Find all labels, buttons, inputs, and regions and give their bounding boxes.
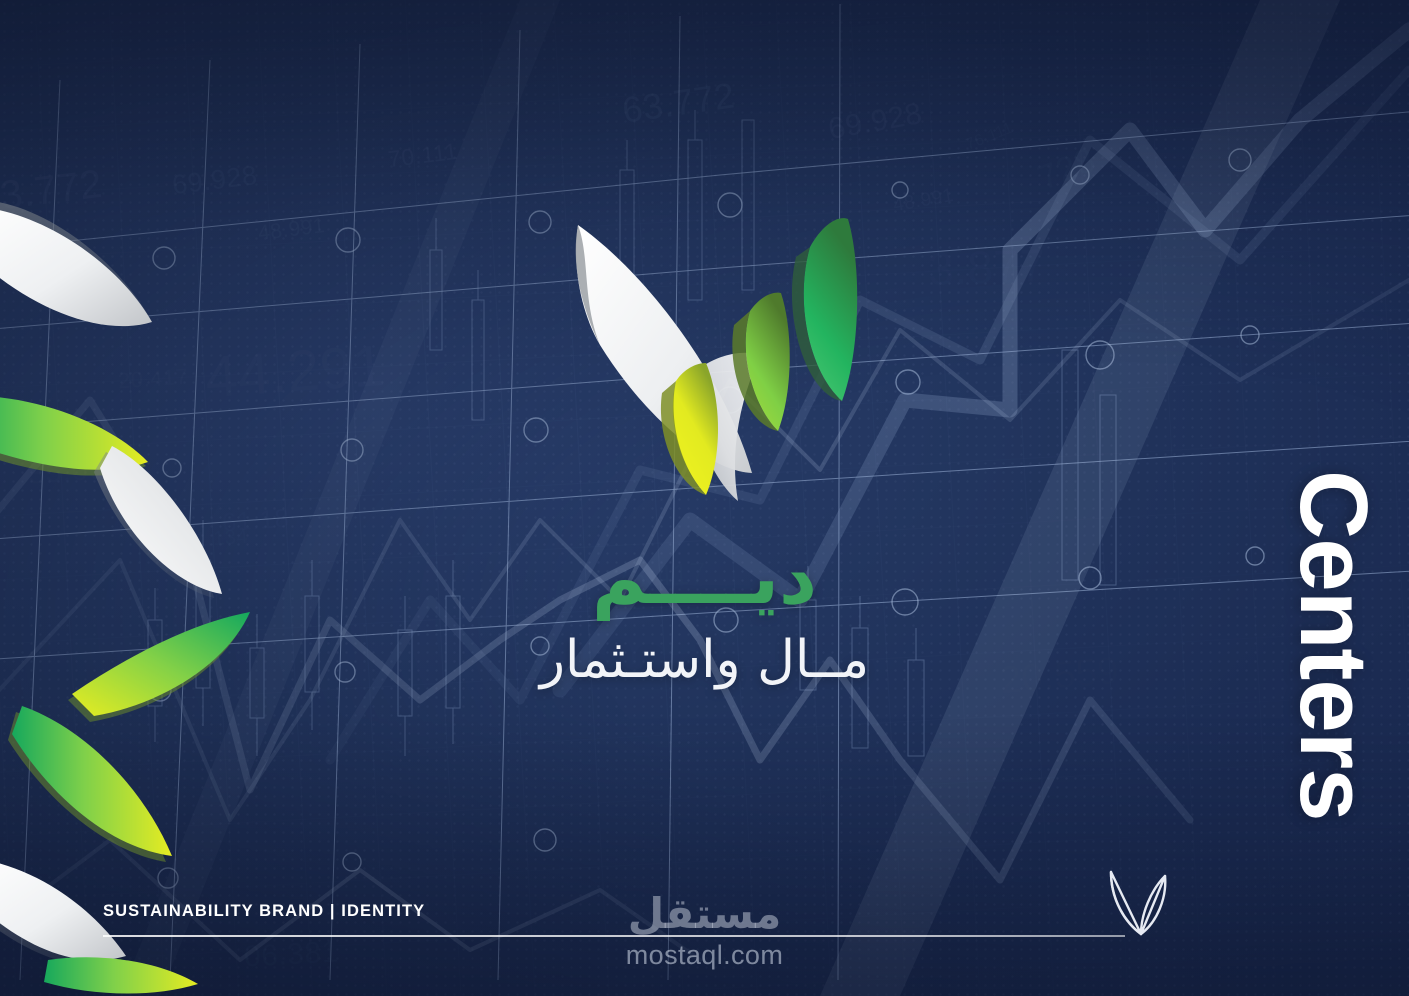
wordmark-primary: ديــــم <box>0 540 1409 618</box>
brand-wordmark: ديــــم مــال واستـثمار <box>0 540 1409 689</box>
side-section-title: Centers <box>1285 470 1381 820</box>
leaf-green-4 <box>44 957 198 993</box>
logo-leaf-green <box>792 218 857 401</box>
leaf-white-1 <box>0 200 152 326</box>
brand-logo-mark <box>556 205 886 510</box>
footer-label: SUSTAINABILITY BRAND | IDENTITY <box>103 902 425 921</box>
leaf-v-icon <box>1095 862 1177 938</box>
leaf-green-3 <box>8 706 172 862</box>
footer-divider <box>103 935 1125 937</box>
brand-presentation-slide: 3.77269.92848.99170.11163.77269.92848.99… <box>0 0 1409 996</box>
wordmark-secondary: مــال واستـثمار <box>0 632 1409 689</box>
